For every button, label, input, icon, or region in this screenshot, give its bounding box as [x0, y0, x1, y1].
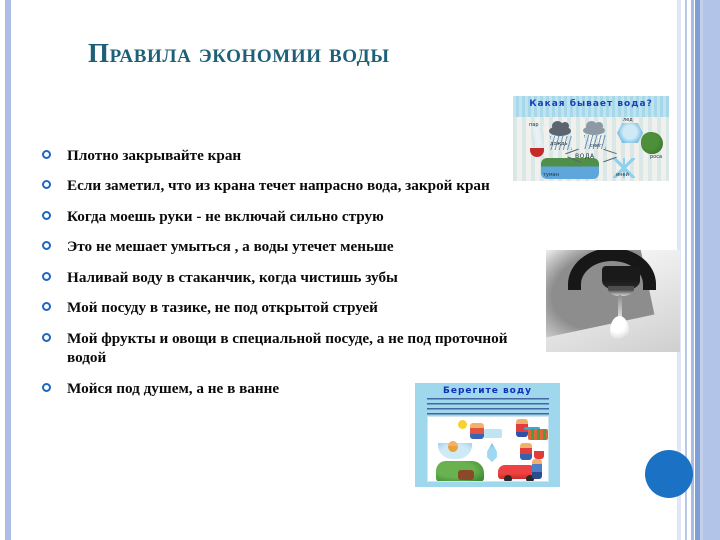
- rules-list: Плотно закрывайте кран Если заметил, что…: [40, 146, 520, 409]
- cloud-icon: [549, 126, 571, 136]
- child-at-sink-icon: [470, 423, 484, 439]
- bullet-circle-icon: [42, 383, 51, 392]
- ice-icon: [617, 123, 643, 143]
- plant-icon: [641, 132, 663, 154]
- person-washing-car-icon: [532, 459, 542, 479]
- bullet-circle-icon: [42, 272, 51, 281]
- list-item-label: Наливай воду в стаканчик, когда чистишь …: [67, 268, 520, 287]
- water-droplet-icon: [610, 316, 629, 340]
- slide-canvas: Правила экономии воды Плотно закрывайте …: [0, 0, 720, 540]
- poster-label-rosa: роса: [650, 154, 662, 160]
- bullet-circle-icon: [42, 302, 51, 311]
- poster-body-text-block: [427, 398, 549, 415]
- poster-label-sneg: снег: [590, 143, 602, 149]
- list-item-label: Мой посуду в тазике, не под открытой стр…: [67, 298, 520, 317]
- water-droplet-icon: [485, 443, 499, 462]
- list-item: Мой посуду в тазике, не под открытой стр…: [40, 298, 520, 317]
- list-item: Мой фрукты и овощи в специальной посуде,…: [40, 329, 520, 368]
- sun-icon: [458, 420, 467, 429]
- poster-label-par: пар: [529, 122, 539, 128]
- list-item: Когда моешь руки - не включай сильно стр…: [40, 207, 520, 226]
- poster-title-save-water: Берегите воду: [415, 386, 560, 396]
- garden-bed-icon: [528, 429, 548, 440]
- poster-title-water-kinds: Какая бывает вода?: [513, 99, 669, 109]
- list-item: Если заметил, что из крана течет напрасн…: [40, 176, 520, 195]
- bullet-circle-icon: [42, 333, 51, 342]
- list-item-label: Когда моешь руки - не включай сильно стр…: [67, 207, 520, 226]
- bullet-circle-icon: [42, 150, 51, 159]
- list-item-label: Мой фрукты и овощи в специальной посуде,…: [67, 329, 520, 368]
- decorative-blue-circle: [645, 450, 693, 498]
- list-item: Плотно закрывайте кран: [40, 146, 520, 165]
- stripe-3: [691, 0, 694, 540]
- poster-center-label: ВОДА: [575, 153, 595, 160]
- bucket-icon: [534, 451, 544, 459]
- bullet-circle-icon: [42, 180, 51, 189]
- poster-illustration-canvas: [427, 416, 549, 482]
- image-water-kinds-poster: Какая бывает вода? ВОДА пар дождь снег л…: [513, 96, 669, 181]
- stripe-6: [703, 0, 720, 540]
- man-with-bucket-icon: [520, 443, 532, 460]
- poster-label-inei: иней: [616, 172, 629, 178]
- cloud-icon: [583, 126, 605, 135]
- steam-icon: [531, 126, 544, 148]
- list-item-label: Если заметил, что из крана течет напрасн…: [67, 176, 520, 195]
- list-item: Это не мешает умыться , а воды утечет ме…: [40, 237, 520, 256]
- list-item: Наливай воду в стаканчик, когда чистишь …: [40, 268, 520, 287]
- child-in-bath-icon: [448, 441, 458, 452]
- left-accent-stripe: [5, 0, 11, 540]
- list-item-label: Это не мешает умыться , а воды утечет ме…: [67, 237, 520, 256]
- car-wheel-icon: [504, 475, 512, 482]
- poster-label-tuman: туман: [543, 172, 559, 178]
- poster-label-dozhd: дождь: [550, 141, 567, 147]
- sink-icon: [484, 429, 502, 438]
- bullet-circle-icon: [42, 211, 51, 220]
- horse-icon: [458, 470, 474, 480]
- image-save-water-poster: Берегите воду: [415, 383, 560, 487]
- bullet-circle-icon: [42, 241, 51, 250]
- page-title: Правила экономии воды: [88, 38, 648, 69]
- poster-label-led: лед: [623, 117, 633, 123]
- list-item-label: Плотно закрывайте кран: [67, 146, 520, 165]
- image-dripping-faucet: [546, 250, 680, 352]
